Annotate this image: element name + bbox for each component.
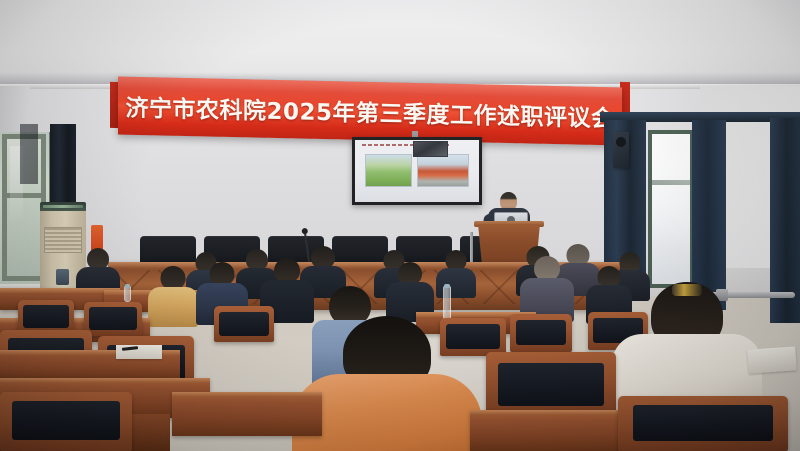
desk-top — [0, 378, 210, 383]
air-conditioner-top — [40, 202, 86, 211]
bottle-cap — [444, 284, 450, 288]
projection-surface — [355, 140, 479, 202]
desk-top — [172, 392, 322, 397]
chair-cushion — [219, 312, 268, 336]
slide-photo-green-field — [365, 154, 412, 187]
desk-foreground — [470, 410, 640, 451]
chair-cushion — [516, 320, 567, 345]
chair-cushion — [23, 305, 69, 327]
slide-inset-photo — [413, 141, 448, 157]
chair-cushion — [89, 307, 137, 329]
desk-foreground — [172, 392, 322, 436]
chair-cushion — [12, 401, 120, 440]
water-bottle — [124, 286, 131, 302]
banner-title: 济宁市农科院2025年第三季度工作述职评议会 — [118, 77, 622, 146]
slide-photo-facility — [417, 154, 469, 187]
attendee-tan-jacket — [148, 266, 198, 324]
chair-foreground — [618, 396, 788, 451]
chair-foreground — [0, 392, 132, 451]
air-conditioner-display — [56, 269, 69, 285]
projection-screen — [352, 137, 482, 205]
water-bottle — [443, 286, 451, 320]
chair-cushion — [633, 405, 772, 441]
wall-speaker-icon — [613, 132, 629, 168]
attendee-torso — [436, 268, 476, 298]
chair-empty — [18, 300, 74, 334]
desk-top — [0, 288, 120, 293]
notepad — [747, 346, 797, 373]
desk-top — [470, 410, 640, 415]
air-conditioner-strip — [43, 205, 83, 208]
chair-foreground — [486, 352, 616, 418]
chair-cushion — [498, 363, 605, 407]
attendee — [520, 256, 574, 320]
attendee — [436, 250, 476, 295]
chair-empty — [214, 306, 274, 342]
window-right-glow — [652, 134, 690, 284]
chair-empty — [84, 302, 142, 336]
attendee-torso — [148, 287, 198, 327]
meeting-banner: 济宁市农科院2025年第三季度工作述职评议会 — [118, 77, 622, 146]
curtain-left-secondary — [20, 124, 38, 184]
bottle-cap — [125, 284, 130, 288]
window-right — [648, 130, 694, 288]
meeting-photo: 济宁市农科院2025年第三季度工作述职评议会 — [0, 0, 800, 451]
hair-clip — [672, 284, 702, 296]
chair-empty — [510, 314, 572, 352]
